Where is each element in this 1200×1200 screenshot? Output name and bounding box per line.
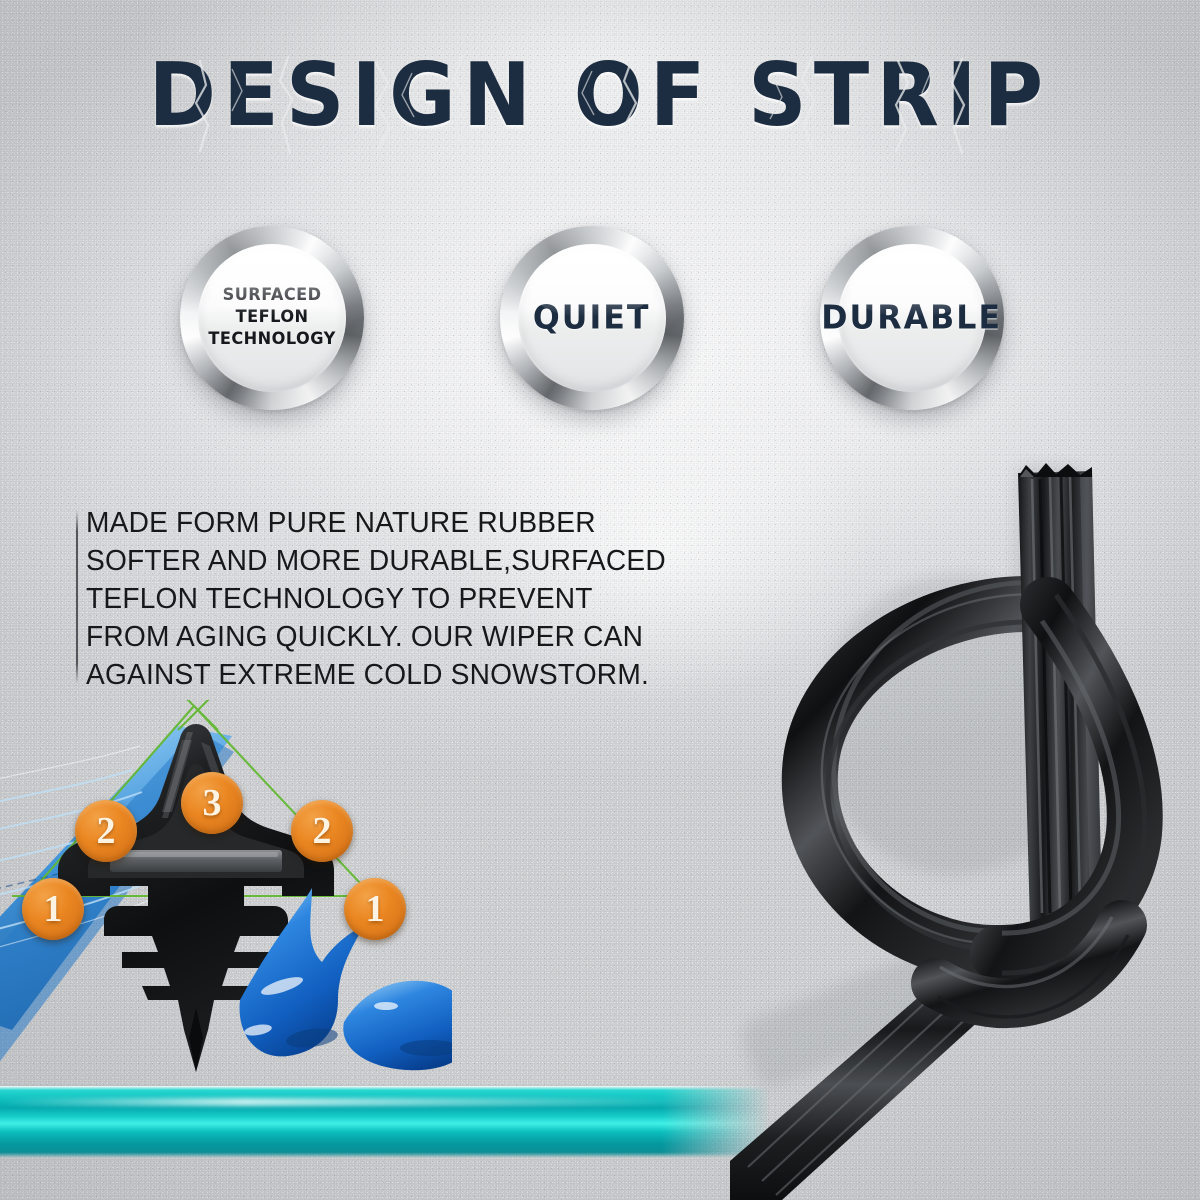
badge-label-line: SURFACED [208, 285, 335, 307]
badge-durable[interactable]: DURABLE [820, 226, 1004, 410]
rubber-strip-svg [730, 455, 1200, 1200]
callout-label: 1 [366, 890, 385, 928]
infographic-canvas: DESIGN OF STRIP [0, 0, 1200, 1200]
callout-1-left[interactable]: 1 [22, 878, 84, 940]
callout-1-right[interactable]: 1 [344, 878, 406, 940]
knotted-rubber-wiper-strip [730, 455, 1200, 1200]
badge-label: DURABLE [822, 299, 1003, 337]
badge-surfaced-teflon-technology[interactable]: SURFACED TEFLON TECHNOLOGY [180, 226, 364, 410]
callout-3-top[interactable]: 3 [181, 772, 243, 834]
callout-label: 3 [203, 784, 222, 822]
badge-label-line: TEFLON [208, 307, 335, 329]
badge-face: QUIET [518, 244, 666, 392]
callout-2-right[interactable]: 2 [291, 800, 353, 862]
badge-quiet[interactable]: QUIET [500, 226, 684, 410]
description-line: SOFTER AND MORE DURABLE,SURFACED [86, 542, 629, 580]
callout-label: 1 [44, 890, 63, 928]
description-block: MADE FORM PURE NATURE RUBBER SOFTER AND … [86, 504, 646, 694]
callout-label: 2 [313, 812, 332, 850]
page-title: DESIGN OF STRIP [149, 52, 1051, 139]
badge-label: SURFACED TEFLON TECHNOLOGY [208, 285, 335, 350]
description-line: AGAINST EXTREME COLD SNOWSTORM. [86, 656, 629, 694]
description-line: FROM AGING QUICKLY. OUR WIPER CAN [86, 618, 629, 656]
badge-face: SURFACED TEFLON TECHNOLOGY [198, 244, 346, 392]
callout-2-left[interactable]: 2 [75, 800, 137, 862]
badge-face: DURABLE [838, 244, 986, 392]
description-left-rule [76, 510, 78, 684]
description-line: MADE FORM PURE NATURE RUBBER [86, 504, 629, 542]
page-title-wrapper: DESIGN OF STRIP [0, 57, 1200, 135]
description-line: TEFLON TECHNOLOGY TO PREVENT [86, 580, 629, 618]
badge-label-line: TECHNOLOGY [208, 329, 335, 351]
callout-label: 2 [97, 812, 116, 850]
badge-label: QUIET [533, 299, 651, 337]
